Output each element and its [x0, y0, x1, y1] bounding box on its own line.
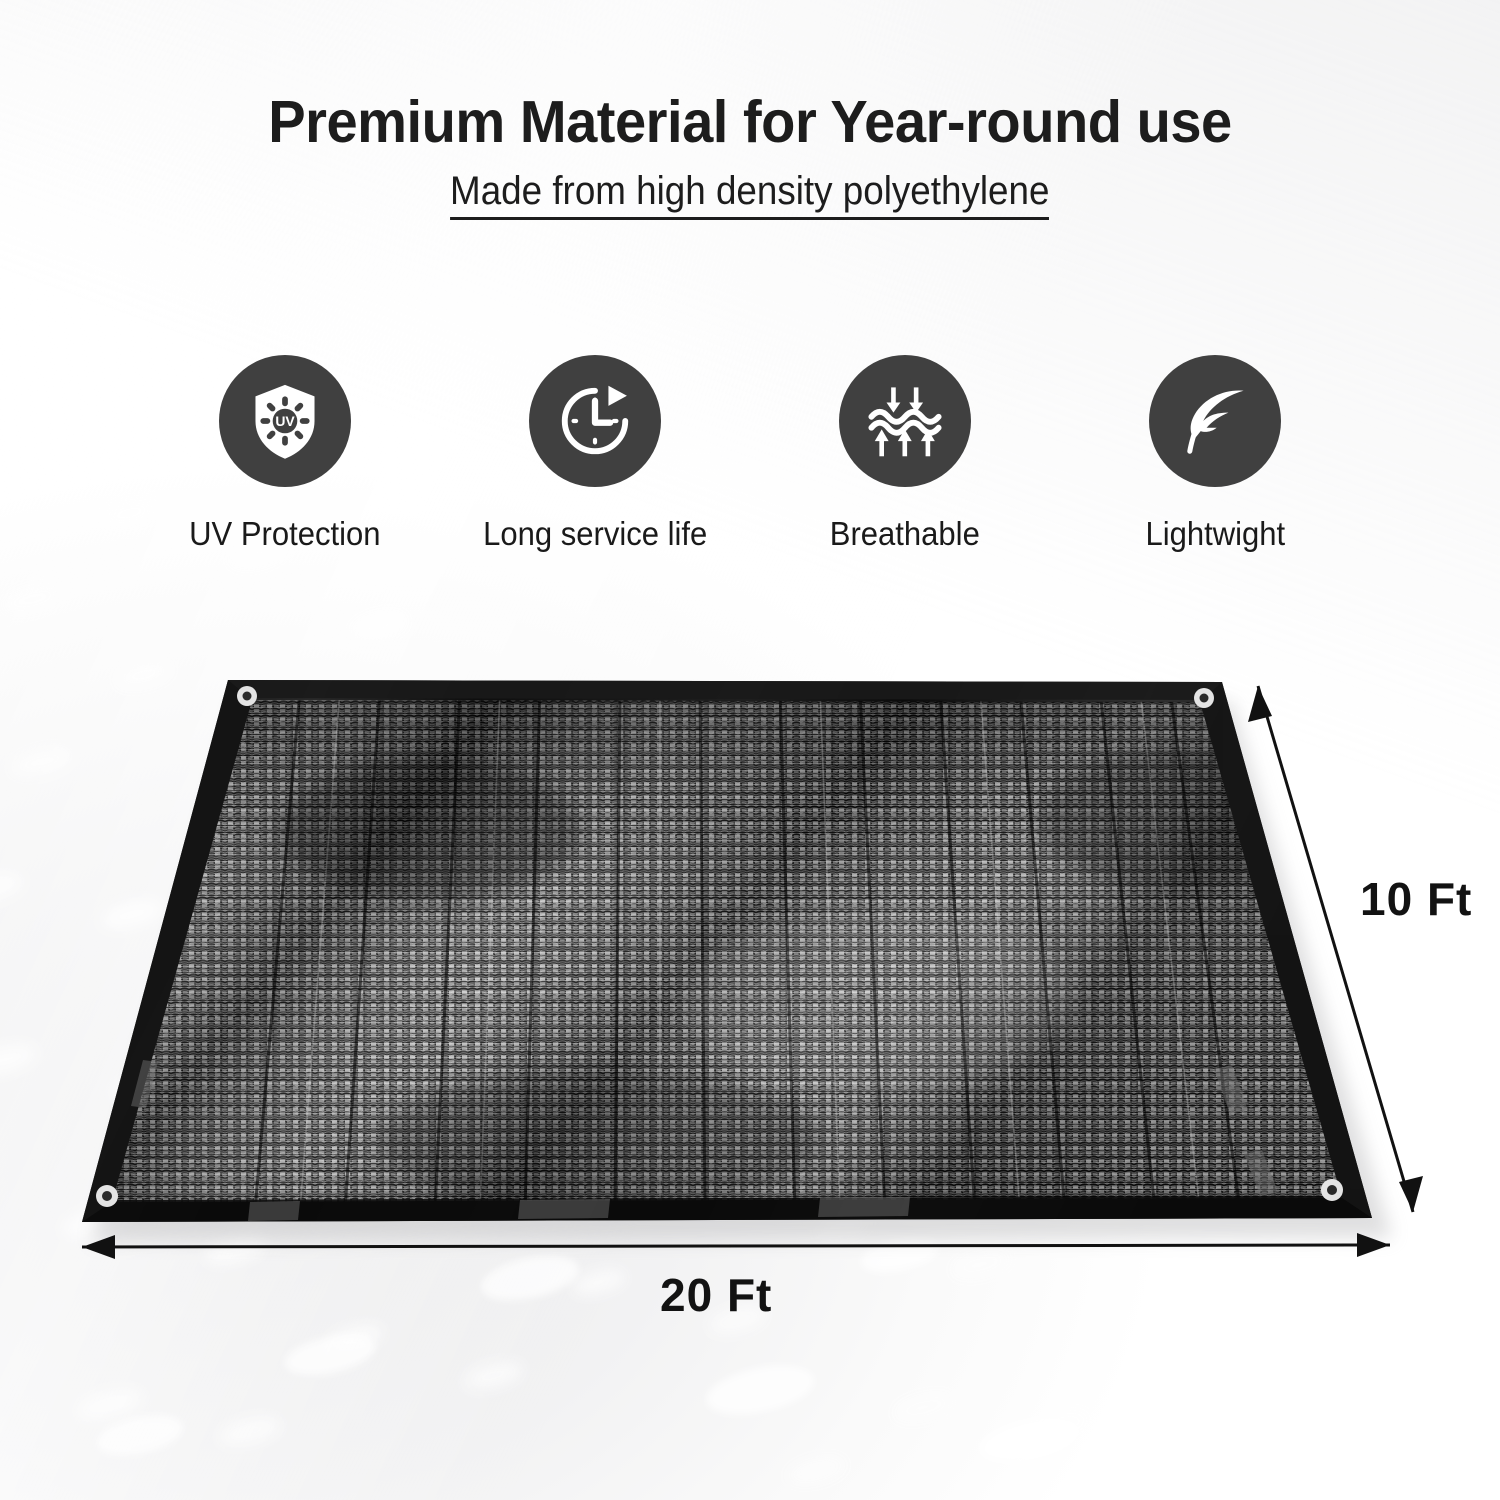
uv-icon-text: UV: [275, 413, 295, 429]
product-shadow: [92, 700, 1392, 1242]
feature-item-breathable: Breathable: [750, 355, 1060, 553]
feature-item-long-service-life: Long service life: [440, 355, 750, 553]
clock-arrow-icon: [529, 355, 661, 487]
shade-cloth-tarp: [80, 670, 1400, 1230]
mesh-weave: [80, 670, 1400, 1230]
dimension-arrow-width: [82, 1233, 1390, 1259]
dimension-label-width: 20 Ft: [660, 1268, 772, 1322]
feature-item-uv-protection: UV UV Protection: [130, 355, 440, 553]
grommet: [96, 686, 1343, 1207]
breathable-waves-icon: [839, 355, 971, 487]
binding-edge: [82, 680, 1372, 1222]
dimension-label-height: 10 Ft: [1360, 872, 1472, 926]
feature-label-uv-protection: UV Protection: [189, 515, 380, 553]
feather-icon: [1149, 355, 1281, 487]
dimension-arrow-height: [1248, 686, 1423, 1212]
feature-label-long-service-life: Long service life: [483, 515, 707, 553]
header: Premium Material for Year-round use Made…: [0, 0, 1500, 220]
uv-shield-icon: UV: [219, 355, 351, 487]
product-feature-infographic: Premium Material for Year-round use Made…: [0, 0, 1500, 1500]
page-title: Premium Material for Year-round use: [38, 88, 1463, 156]
feature-label-lightwight: Lightwight: [1145, 515, 1285, 553]
feature-item-lightwight: Lightwight: [1060, 355, 1370, 553]
feature-label-breathable: Breathable: [830, 515, 980, 553]
page-subtitle: Made from high density polyethylene: [450, 170, 1049, 220]
feature-list: UV UV Protection: [0, 355, 1500, 553]
